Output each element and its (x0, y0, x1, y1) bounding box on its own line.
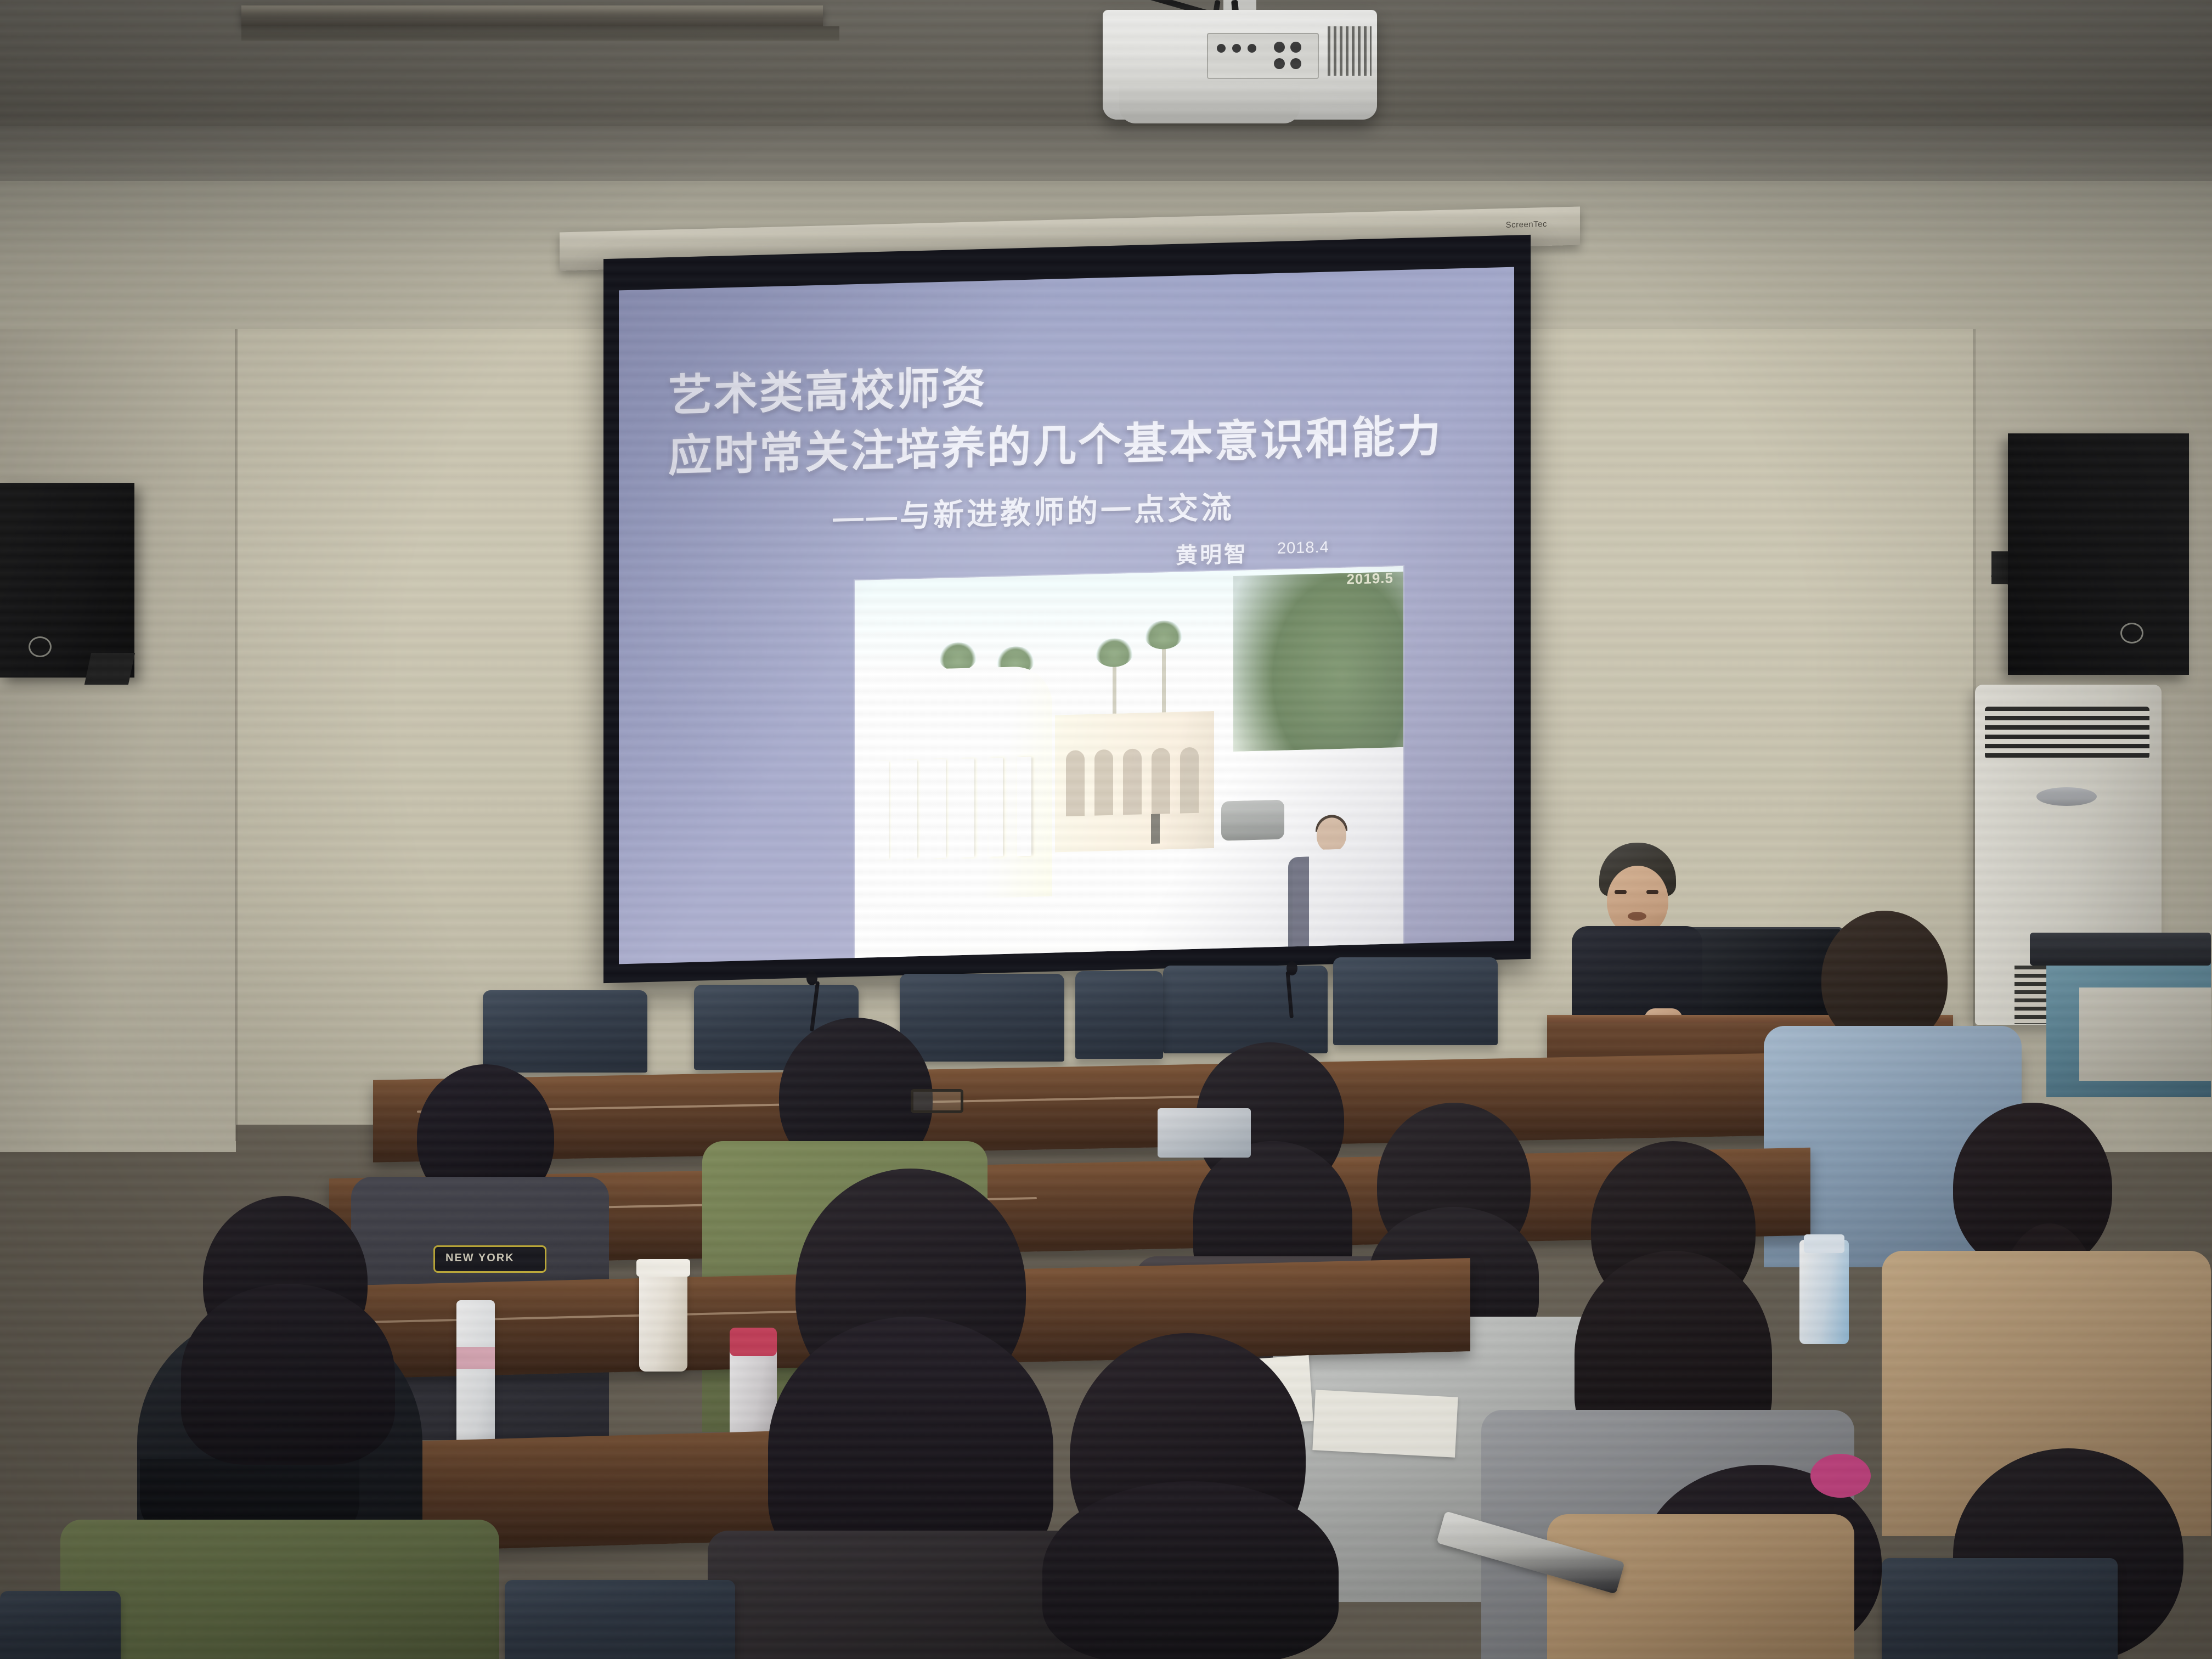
bottle-cap (1804, 1234, 1844, 1253)
eyeglasses-icon (911, 1089, 963, 1113)
left-wall-panel (0, 329, 236, 1152)
projector-lens-housing (1119, 82, 1300, 123)
yamaha-logo-icon (2120, 623, 2143, 644)
audience-hair (181, 1284, 395, 1465)
auditorium-chair[interactable] (1333, 957, 1498, 1045)
auditorium-chair[interactable] (505, 1580, 735, 1659)
auditorium-chair[interactable] (900, 974, 1064, 1062)
ceiling-beam (241, 5, 823, 26)
backpack-text: NEW YORK (445, 1252, 515, 1265)
bottle-cap (730, 1328, 777, 1356)
yamaha-logo-icon (29, 636, 52, 657)
speaker-bracket-left (84, 653, 135, 685)
notes-paper[interactable] (1312, 1390, 1458, 1457)
projector-vent (1328, 26, 1372, 76)
presenter-mouth (1628, 912, 1646, 921)
coffee-cup[interactable] (639, 1262, 687, 1372)
audience-hair (1042, 1481, 1339, 1659)
wall-seam-left (235, 329, 238, 1141)
silver-equipment-box (1158, 1108, 1251, 1158)
pink-hair-tie (1810, 1454, 1871, 1498)
ceiling-beam-shadow (241, 26, 839, 41)
wall-speaker-right (2008, 433, 2189, 675)
wall-speaker-left (0, 483, 134, 678)
presenter-eye-right (1646, 890, 1658, 894)
ac-brand-badge (2036, 787, 2097, 806)
auditorium-chair[interactable] (483, 990, 647, 1073)
coffee-cup-lid (636, 1259, 690, 1277)
presenter (1566, 845, 1703, 1026)
projector-port-panel (1207, 33, 1319, 79)
audience-torso (60, 1520, 499, 1659)
screen-vignette (619, 267, 1514, 964)
auditorium-chair[interactable] (0, 1591, 121, 1659)
equipment-rack-panel (2079, 988, 2211, 1081)
auditorium-chair[interactable] (1163, 966, 1328, 1053)
auditorium-chair[interactable] (1882, 1558, 2118, 1659)
thermos-band (456, 1347, 495, 1369)
audio-mixer-deck[interactable] (2030, 933, 2211, 966)
water-bottle[interactable] (1799, 1240, 1849, 1344)
presenter-face (1607, 866, 1668, 936)
screen-brand-label: ScreenTec (1506, 219, 1547, 230)
auditorium-chair[interactable] (1075, 971, 1163, 1059)
projection-screen-surface[interactable]: 艺术类高校师资 应时常关注培养的几个基本意识和能力 ——与新进教师的一点交流 黄… (619, 267, 1514, 964)
ac-vent-top (1985, 707, 2149, 759)
lecture-hall-photo: ScreenTec 艺术类高校师资 应时常关注培养的几个基本意识和能力 ——与新… (0, 0, 2212, 1659)
presenter-eye-left (1615, 890, 1627, 894)
